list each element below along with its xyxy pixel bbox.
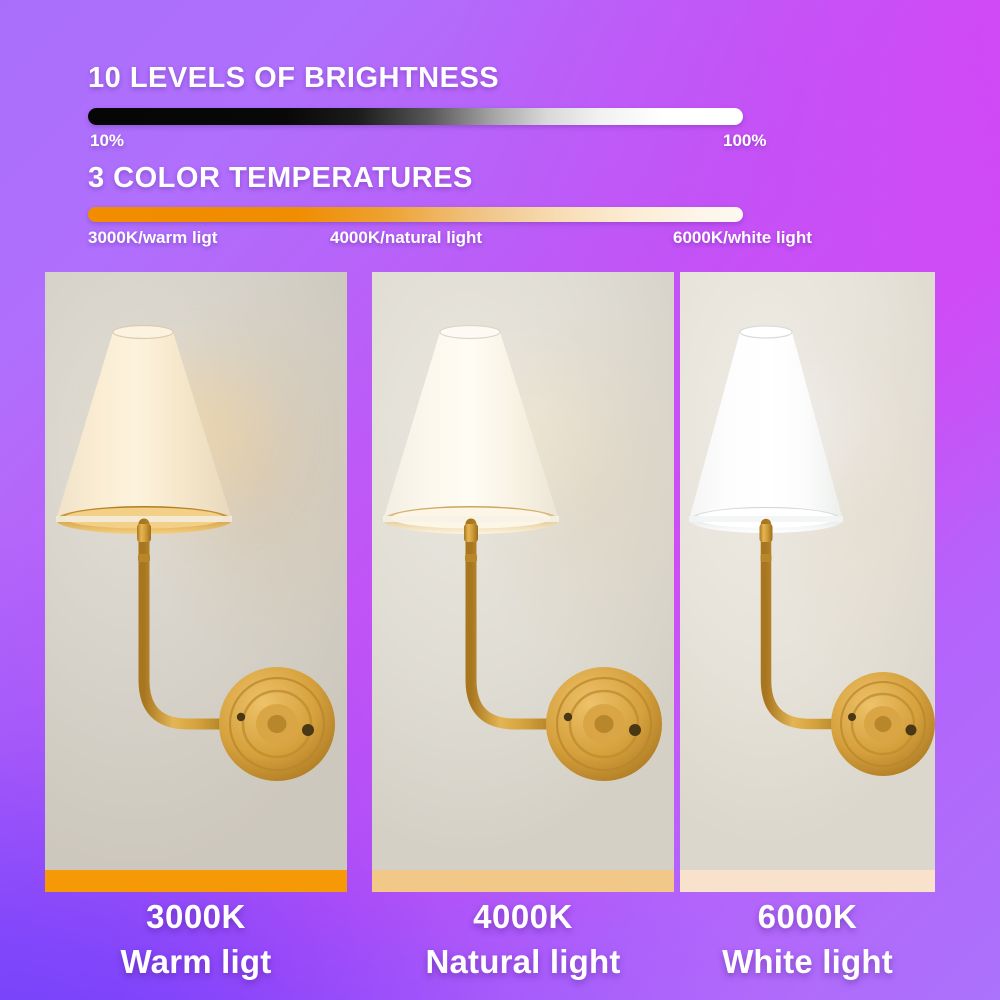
brightness-max-label: 100% — [723, 131, 766, 151]
wall-sconce-illustration — [45, 272, 347, 870]
panel-accent-bar-white — [680, 870, 935, 892]
product-photo-panel-warm — [45, 272, 347, 892]
panel-accent-bar-natural — [372, 870, 674, 892]
infographic-canvas: 10 LEVELS OF BRIGHTNESS 10% 100% 3 COLOR… — [0, 0, 1000, 1000]
wall-sconce-illustration — [372, 272, 674, 870]
lamp-photo-natural — [372, 272, 674, 870]
color-temperature-scale-label-white: 6000K/white light — [673, 228, 812, 248]
caption-name-warm: Warm ligt — [45, 943, 347, 981]
caption-kelvin-natural: 4000K — [372, 898, 674, 936]
panel-caption-white: 6000K White light — [680, 898, 935, 981]
caption-kelvin-warm: 3000K — [45, 898, 347, 936]
color-temperature-gradient-bar — [88, 207, 743, 222]
brightness-heading: 10 LEVELS OF BRIGHTNESS — [88, 62, 499, 95]
caption-name-white: White light — [680, 943, 935, 981]
caption-kelvin-white: 6000K — [680, 898, 935, 936]
product-photo-panel-white — [680, 272, 935, 892]
wall-sconce-illustration — [680, 272, 935, 870]
panel-caption-natural: 4000K Natural light — [372, 898, 674, 981]
color-temperature-scale-label-warm: 3000K/warm ligt — [88, 228, 217, 248]
caption-name-natural: Natural light — [372, 943, 674, 981]
product-photo-row — [0, 272, 1000, 892]
lamp-photo-white — [680, 272, 935, 870]
color-temperature-heading: 3 COLOR TEMPERATURES — [88, 162, 473, 195]
product-photo-panel-natural — [372, 272, 674, 892]
color-temperature-scale-label-natural: 4000K/natural light — [330, 228, 482, 248]
lamp-photo-warm — [45, 272, 347, 870]
brightness-gradient-bar — [88, 108, 743, 125]
panel-accent-bar-warm — [45, 870, 347, 892]
brightness-min-label: 10% — [90, 131, 124, 151]
panel-caption-warm: 3000K Warm ligt — [45, 898, 347, 981]
